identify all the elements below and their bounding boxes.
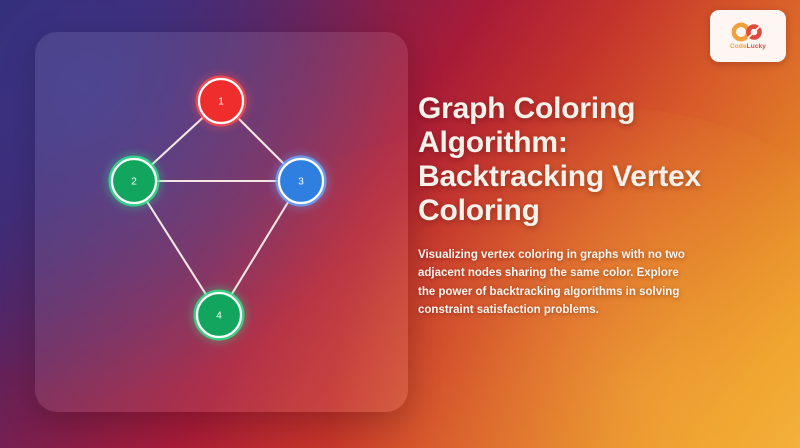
page-title: Graph Coloring Algorithm: Backtracking V…	[418, 92, 758, 228]
slide-canvas: 1234 Graph Coloring Algorithm: Backtrack…	[0, 0, 800, 448]
brand-name-part2: Lucky	[747, 43, 766, 50]
graph-node-4[interactable]: 4	[195, 291, 243, 339]
graph-visualization-card: 1234	[35, 32, 408, 412]
graph-node-1[interactable]: 1	[197, 77, 245, 125]
text-column: Graph Coloring Algorithm: Backtracking V…	[418, 92, 758, 320]
infinity-loops-icon	[728, 22, 768, 42]
graph-node-layer: 1234	[110, 77, 325, 339]
node-label-3: 3	[298, 177, 304, 188]
brand-logo-badge[interactable]: CodeLucky	[710, 10, 786, 62]
title-line-4: Coloring	[418, 194, 540, 227]
node-label-4: 4	[216, 311, 222, 322]
graph-edge-layer	[134, 101, 301, 315]
title-line-2: Algorithm:	[418, 126, 568, 159]
brand-name: CodeLucky	[730, 43, 766, 50]
title-line-3: Backtracking Vertex	[418, 160, 701, 193]
graph-node-2[interactable]: 2	[110, 157, 158, 205]
graph-node-3[interactable]: 3	[277, 157, 325, 205]
graph-diagram: 1234	[35, 32, 408, 412]
title-line-1: Graph Coloring	[418, 92, 635, 125]
node-label-1: 1	[218, 97, 224, 108]
brand-name-part1: Code	[730, 43, 747, 50]
node-label-2: 2	[131, 177, 137, 188]
description-text: Visualizing vertex coloring in graphs wi…	[418, 246, 698, 321]
